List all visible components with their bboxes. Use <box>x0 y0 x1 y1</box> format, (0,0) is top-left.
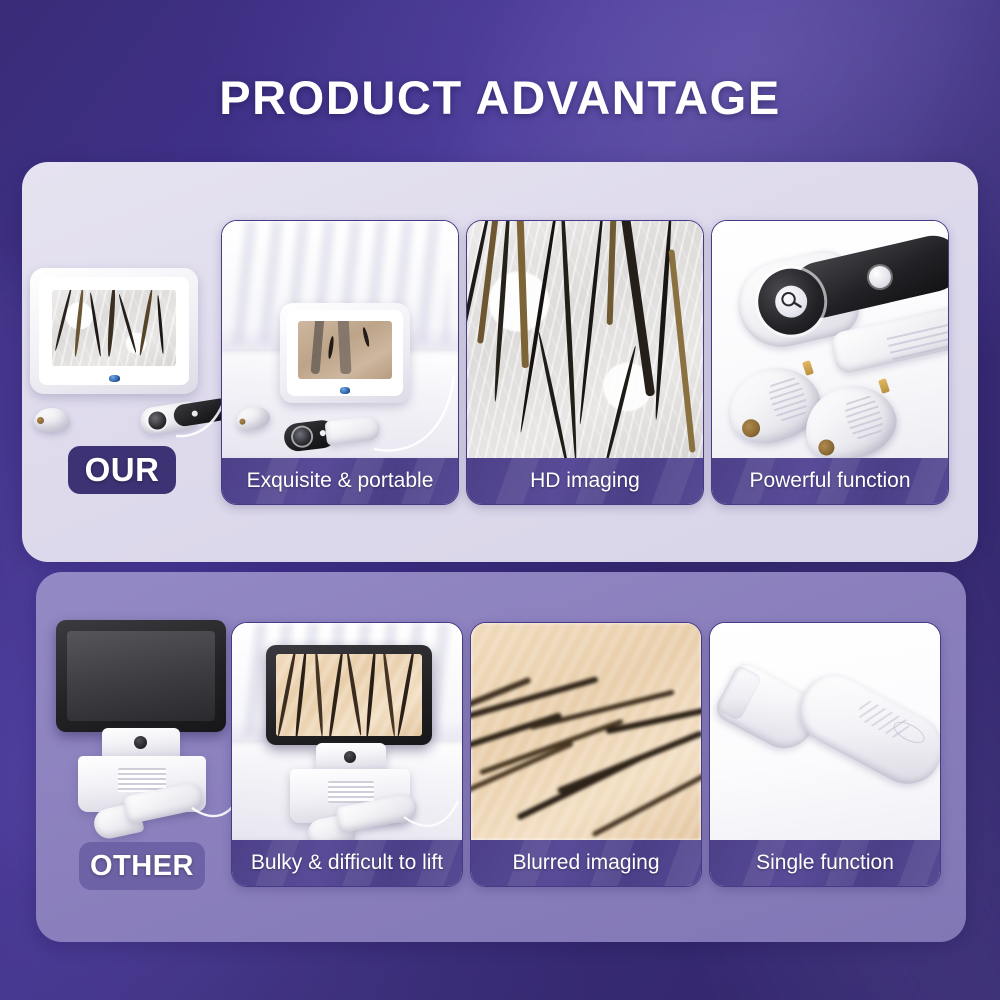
cable <box>402 795 460 840</box>
feature-tile-single-function[interactable]: Single function <box>709 622 941 887</box>
tile-caption: Blurred imaging <box>471 840 701 886</box>
cable <box>172 376 222 446</box>
tile-image-analyzer-with-lens-tips <box>712 221 948 458</box>
cable <box>362 371 458 457</box>
tile-caption: Single function <box>710 840 940 886</box>
tile-caption: Bulky & difficult to lift <box>232 840 462 886</box>
tile-caption: HD imaging <box>467 458 703 504</box>
tile-image-sharp-hair-micrograph <box>467 221 703 458</box>
feature-tile-bulky-difficult-to-lift[interactable]: Bulky & difficult to lift <box>231 622 463 887</box>
feature-tile-powerful-function[interactable]: Powerful function <box>711 220 949 505</box>
tile-image-plain-white-wand <box>710 623 940 840</box>
tile-image-compact-monitor-on-desk <box>222 221 458 458</box>
feature-tile-hd-imaging[interactable]: HD imaging <box>466 220 704 505</box>
hero-image-other <box>40 600 240 860</box>
page-title: PRODUCT ADVANTAGE <box>0 70 1000 125</box>
badge-our: OUR <box>68 446 176 494</box>
tile-caption: Exquisite & portable <box>222 458 458 504</box>
infographic-canvas: PRODUCT ADVANTAGE <box>0 0 1000 1000</box>
hero-image-our <box>22 180 222 470</box>
feature-tile-blurred-imaging[interactable]: Blurred imaging <box>470 622 702 887</box>
tile-caption: Powerful function <box>712 458 948 504</box>
badge-other: OTHER <box>79 842 205 890</box>
tile-image-large-monitor-on-stand <box>232 623 462 840</box>
feature-tile-exquisite-portable[interactable]: Exquisite & portable <box>221 220 459 505</box>
tile-image-blurred-hair-micrograph <box>471 623 701 840</box>
